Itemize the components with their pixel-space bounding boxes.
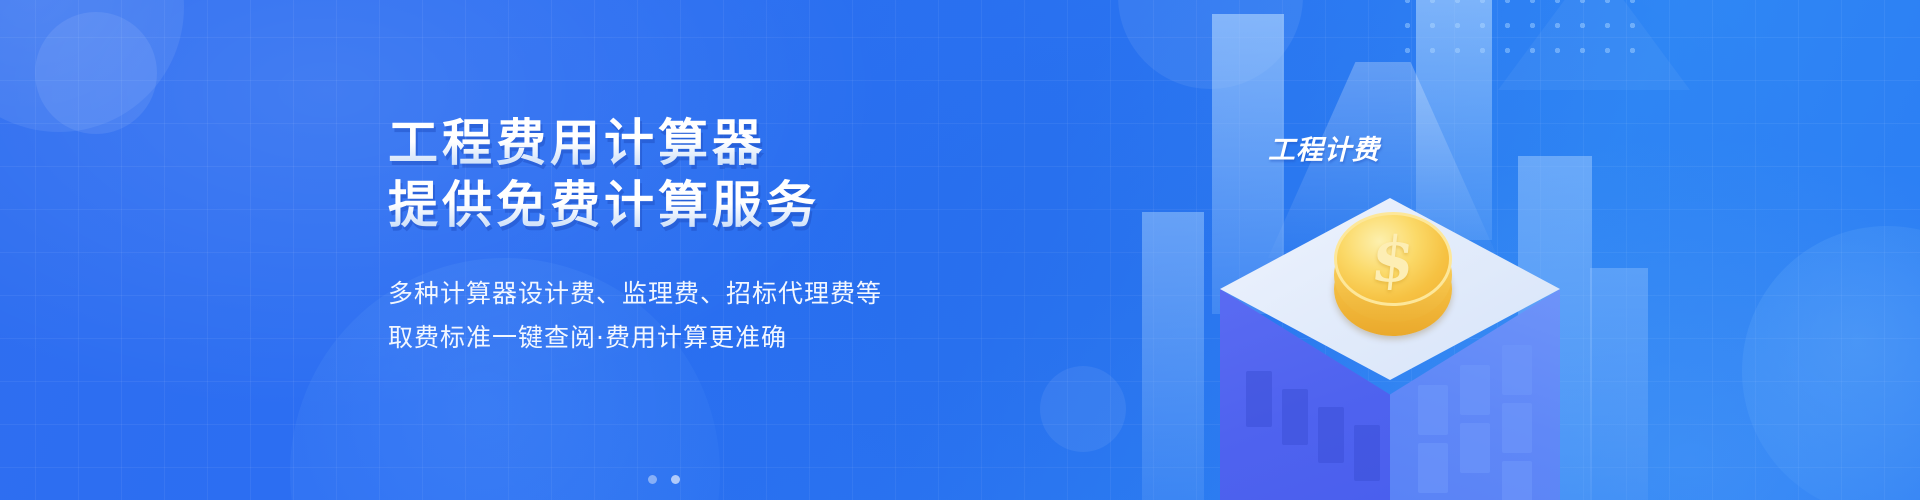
decorative-circle-top-left-small [35,12,157,134]
background-tower-1 [1142,212,1204,500]
building-window [1502,461,1532,500]
gold-coin-stack-icon: $ [1334,212,1452,330]
building-window [1354,425,1380,481]
carousel-dot-1[interactable] [648,475,657,484]
building-window [1246,371,1272,427]
building-window [1318,407,1344,463]
building-window [1418,385,1448,435]
banner-headline-line-2: 提供免费计算服务 [388,174,1008,236]
carousel-dots [648,475,680,484]
banner-headline-line-1: 工程费用计算器 [388,112,1008,174]
banner-subtitle-line-2: 取费标准一键查阅·费用计算更准确 [388,316,1008,360]
illustration-label: 工程计费 [1268,128,1380,167]
building-window [1502,345,1532,395]
banner-subtitle-line-1: 多种计算器设计费、监理费、招标代理费等 [388,272,1008,316]
carousel-dot-2[interactable] [671,475,680,484]
background-tower-5 [1590,268,1648,500]
hero-banner: 工程费用计算器 提供免费计算服务 多种计算器设计费、监理费、招标代理费等 取费标… [0,0,1920,500]
banner-text-block: 工程费用计算器 提供免费计算服务 多种计算器设计费、监理费、招标代理费等 取费标… [388,112,1008,360]
building-window [1502,403,1532,453]
building-window [1460,365,1490,415]
banner-illustration: $ 工程计费 [1120,0,1680,500]
building-window [1460,423,1490,473]
decorative-circle-bottom-mid [1040,366,1126,452]
building-window [1418,443,1448,493]
dollar-symbol-icon: $ [1329,212,1457,306]
building-window [1282,389,1308,445]
